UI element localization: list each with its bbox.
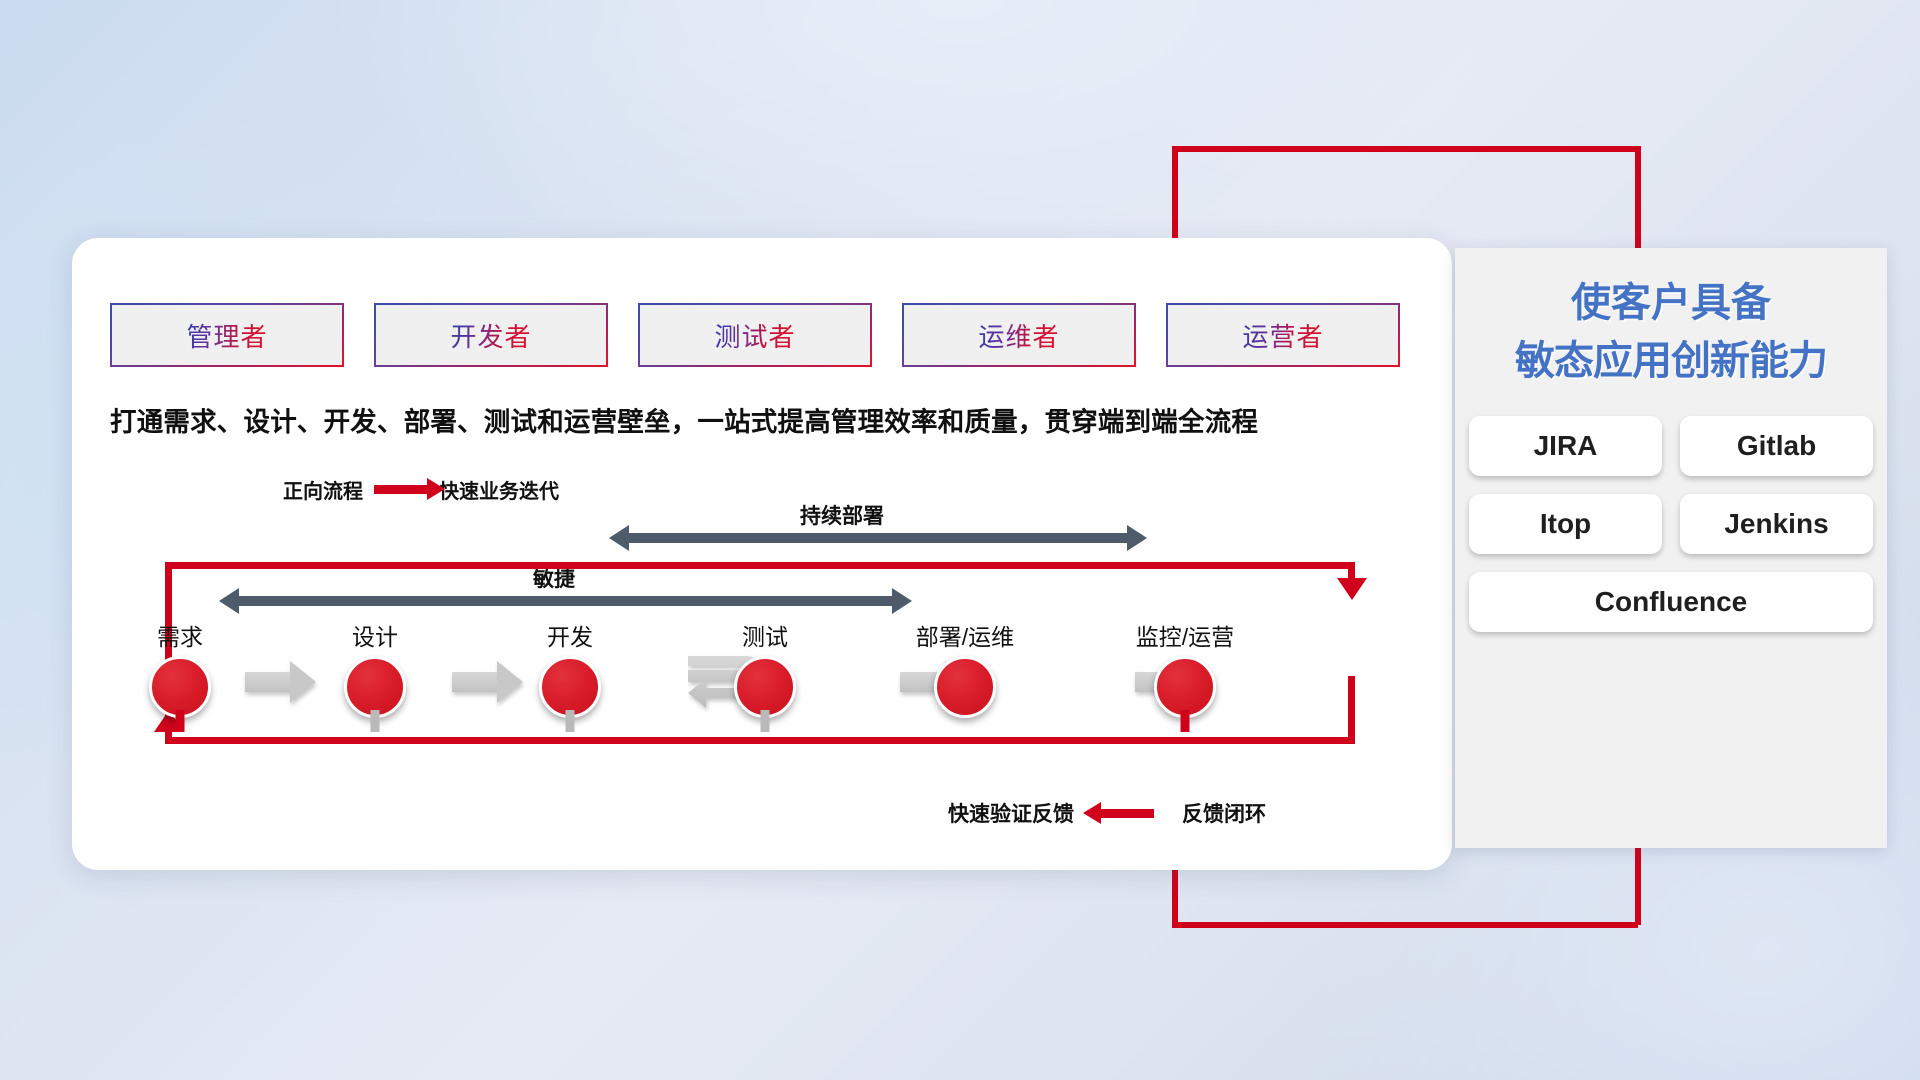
panel-heading-line2: 敏态应用创新能力 (1455, 332, 1887, 390)
role-box-row: 管理者 开发者 测试者 运维者 运营者 (110, 303, 1400, 367)
stage-stem (761, 710, 770, 732)
role-box-ops[interactable]: 运维者 (902, 303, 1136, 367)
outer-bracket-bottom (1172, 922, 1638, 928)
panel-heading: 使客户具备 敏态应用创新能力 (1455, 274, 1887, 390)
description-text: 打通需求、设计、开发、部署、测试和运营壁垒，一站式提高管理效率和质量，贯穿端到端… (110, 400, 1440, 439)
feedback-loop-legend: 快速验证反馈 反馈闭环 (948, 798, 1266, 828)
pipeline-stage-row: 需求 设计 开发 测试 部署/运维 监控/运营 (110, 618, 1420, 738)
stage-dot-icon (734, 656, 796, 718)
tool-chip-jenkins[interactable]: Jenkins (1680, 494, 1873, 554)
tool-chip-gitlab[interactable]: Gitlab (1680, 416, 1873, 476)
stage-dot-icon (934, 656, 996, 718)
outer-bracket-top (1172, 146, 1638, 152)
feedback-source-label: 反馈闭环 (1182, 798, 1266, 828)
panel-heading-line1: 使客户具备 (1455, 274, 1887, 332)
stage-label: 需求 (105, 618, 255, 652)
stage-testing[interactable]: 测试 (690, 618, 840, 718)
forward-flow-legend: 正向流程 快速业务迭代 (283, 475, 559, 504)
value-proposition-panel: 使客户具备 敏态应用创新能力 JIRA Gitlab Itop Jenkins … (1455, 248, 1887, 848)
stage-dot-icon (1154, 656, 1216, 718)
tool-chip-confluence[interactable]: Confluence (1469, 572, 1873, 632)
feedback-loop-bottom-segment (165, 737, 1355, 744)
stage-stem (371, 710, 380, 732)
role-box-tester[interactable]: 测试者 (638, 303, 872, 367)
stage-label: 测试 (690, 618, 840, 652)
stage-label: 设计 (300, 618, 450, 652)
stage-label: 部署/运维 (890, 618, 1040, 652)
tool-chip-jira[interactable]: JIRA (1469, 416, 1662, 476)
stage-dot-icon (344, 656, 406, 718)
continuous-deployment-caption: 持续部署 (800, 500, 884, 530)
stage-deploy-ops[interactable]: 部署/运维 (890, 618, 1040, 718)
stage-label: 开发 (495, 618, 645, 652)
arrow-down-red-icon (1337, 578, 1367, 600)
stage-monitor-operations[interactable]: 监控/运营 (1110, 618, 1260, 718)
tool-chip-grid: JIRA Gitlab Itop Jenkins Confluence (1469, 416, 1873, 632)
role-box-operations[interactable]: 运营者 (1166, 303, 1400, 367)
role-label: 运维者 (978, 317, 1059, 354)
tool-chip-itop[interactable]: Itop (1469, 494, 1662, 554)
forward-flow-source-label: 正向流程 (283, 475, 363, 504)
role-label: 测试者 (714, 317, 795, 354)
slide-canvas: 管理者 开发者 测试者 运维者 运营者 打通需求、设计、开发、部署、测试和运营壁… (0, 0, 1920, 1080)
double-arrow-continuous-deployment-icon (628, 533, 1128, 543)
arrow-left-red-icon (1100, 809, 1154, 818)
role-box-manager[interactable]: 管理者 (110, 303, 344, 367)
stage-dot-icon (149, 656, 211, 718)
stage-development[interactable]: 开发 (495, 618, 645, 718)
stage-stem (566, 710, 575, 732)
role-label: 开发者 (450, 317, 531, 354)
arrow-right-red-icon (374, 485, 428, 494)
role-label: 运营者 (1242, 317, 1323, 354)
stage-design[interactable]: 设计 (300, 618, 450, 718)
feedback-loop-top-segment (165, 562, 1355, 569)
role-label: 管理者 (186, 317, 267, 354)
double-arrow-agile-icon (238, 596, 893, 606)
feedback-target-label: 快速验证反馈 (948, 798, 1074, 828)
stage-label: 监控/运营 (1110, 618, 1260, 652)
stage-dot-icon (539, 656, 601, 718)
forward-flow-target-label: 快速业务迭代 (439, 475, 559, 504)
stage-requirement[interactable]: 需求 (105, 618, 255, 718)
stage-stem (1181, 710, 1190, 732)
role-box-developer[interactable]: 开发者 (374, 303, 608, 367)
stage-stem (176, 710, 185, 732)
